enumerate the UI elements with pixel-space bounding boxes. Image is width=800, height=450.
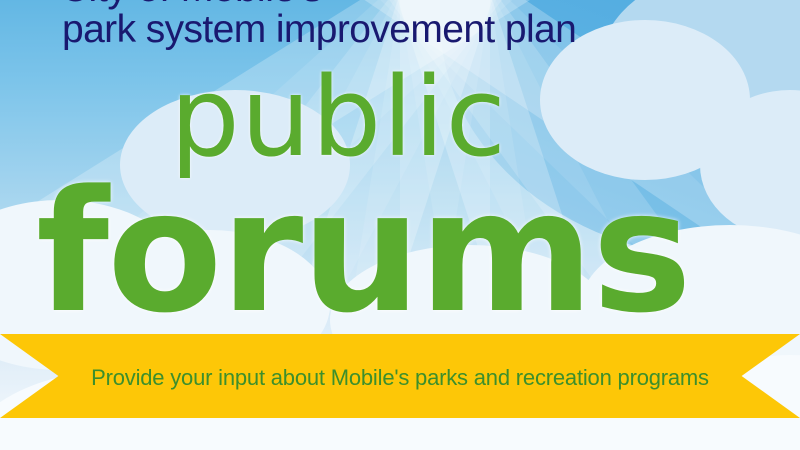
headline-subtitle: park system improvement plan — [62, 8, 576, 52]
ribbon-caption: Provide your input about Mobile's parks … — [0, 334, 800, 418]
title-word-forums: forums — [36, 168, 690, 336]
public-forums-poster: City of Mobile's park system improvement… — [0, 0, 800, 450]
ribbon-banner: Provide your input about Mobile's parks … — [0, 334, 800, 418]
